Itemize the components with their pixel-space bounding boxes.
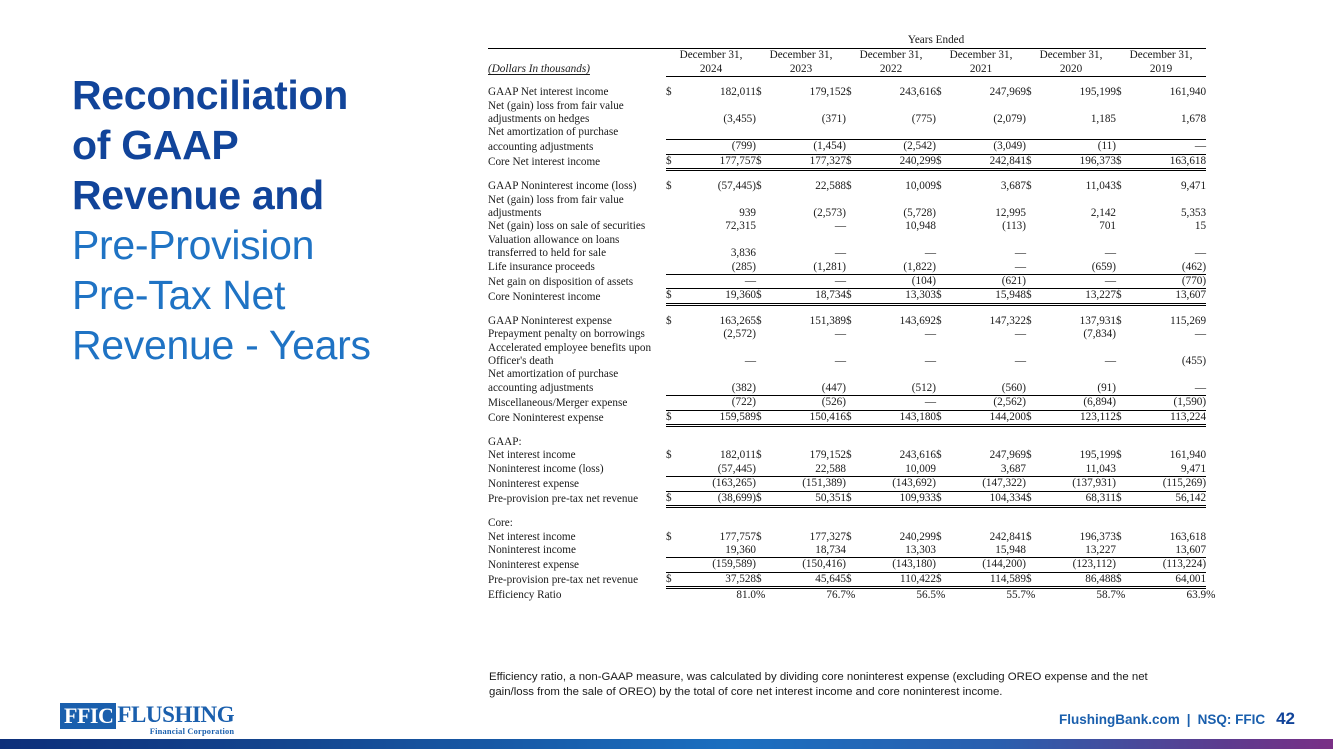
row-currency-symbol: [846, 544, 862, 558]
row-value: 242,841: [952, 531, 1026, 544]
row-value: 161,940: [1132, 449, 1206, 462]
row-value: 56,142: [1132, 491, 1206, 506]
row-value: —: [862, 328, 936, 341]
row-currency-symbol: [936, 544, 952, 558]
table-row: Net interest income$182,011$179,152$243,…: [488, 449, 1206, 462]
row-value: (104): [862, 275, 936, 289]
row-currency-symbol: [936, 463, 952, 477]
row-value: (150,416): [772, 558, 846, 572]
row-currency-symbol: [1116, 140, 1132, 154]
table-row: Net amortization of purchase: [488, 126, 1206, 139]
row-value: 109,933: [862, 491, 936, 506]
row-continuation-pad: [666, 234, 1206, 247]
table-row: Miscellaneous/Merger expense(722)(526)—(…: [488, 396, 1206, 410]
row-currency-symbol: $: [1116, 410, 1132, 425]
row-value: 240,299: [862, 531, 936, 544]
row-currency-symbol: [1116, 558, 1132, 572]
row-value: 163,618: [1132, 531, 1206, 544]
title-line-4: Pre-Provision: [72, 220, 452, 270]
row-value: —: [682, 355, 756, 368]
row-value: 177,757: [682, 154, 756, 169]
row-currency-symbol: $: [936, 86, 952, 99]
row-currency-symbol: [756, 396, 772, 410]
row-currency-symbol: $: [666, 315, 682, 328]
row-value: 144,200: [952, 410, 1026, 425]
column-header-line1: December 31,: [756, 49, 846, 62]
title-line-6: Revenue - Years: [72, 320, 452, 370]
row-currency-symbol: $: [1116, 86, 1132, 99]
row-currency-symbol: $: [1026, 410, 1042, 425]
section-heading-row: Core:: [488, 517, 1206, 530]
row-currency-symbol: $: [936, 449, 952, 462]
row-label: Officer's death: [488, 355, 666, 368]
column-header-line1: December 31,: [936, 49, 1026, 62]
row-value: 64,001: [1132, 572, 1206, 587]
row-value: 86,488: [1042, 572, 1116, 587]
table-row: Noninterest income19,36018,73413,30315,9…: [488, 544, 1206, 558]
row-currency-symbol: [666, 247, 682, 260]
row-value: (3,049): [952, 140, 1026, 154]
row-label: Core Noninterest income: [488, 289, 666, 304]
row-value: 3,836: [682, 247, 756, 260]
row-value: —: [952, 328, 1026, 341]
row-currency-symbol: [846, 355, 862, 368]
row-currency-symbol: [1116, 207, 1132, 220]
row-currency-symbol: [756, 207, 772, 220]
row-value: 18,734: [772, 544, 846, 558]
row-currency-symbol: $: [1116, 572, 1132, 587]
row-currency-symbol: [846, 275, 862, 289]
title-line-1: Reconciliation: [72, 70, 452, 120]
row-value: 196,373: [1042, 154, 1116, 169]
row-value: 2,142: [1042, 207, 1116, 220]
row-value: (799): [682, 140, 756, 154]
table-row: Noninterest expense(163,265)(151,389)(14…: [488, 477, 1206, 491]
row-value: —: [772, 275, 846, 289]
row-currency-symbol: [846, 140, 862, 154]
row-label: Noninterest income (loss): [488, 463, 666, 477]
row-value: 11,043: [1042, 463, 1116, 477]
row-label: Core Net interest income: [488, 154, 666, 169]
row-currency-symbol: [846, 558, 862, 572]
row-value: 11,043: [1042, 180, 1116, 193]
row-value: (3,455): [682, 113, 756, 126]
row-currency-symbol: [756, 220, 772, 233]
row-currency-symbol: $: [756, 86, 772, 99]
row-currency-symbol: $: [756, 491, 772, 506]
row-currency-symbol: [1026, 247, 1042, 260]
row-value: (2,542): [862, 140, 936, 154]
row-currency-symbol: $: [936, 531, 952, 544]
row-value: (447): [772, 382, 846, 396]
row-value: —: [772, 247, 846, 260]
row-value: 163,265: [682, 315, 756, 328]
row-currency-symbol: [666, 140, 682, 154]
row-value: (371): [772, 113, 846, 126]
row-currency-symbol: [1026, 113, 1042, 126]
row-currency-symbol: $: [846, 289, 862, 304]
row-value: 195,199: [1042, 86, 1116, 99]
row-value: 1,678: [1132, 113, 1206, 126]
table-row: Net (gain) loss from fair value: [488, 100, 1206, 113]
row-currency-symbol: [666, 382, 682, 396]
table-row: Core Noninterest expense$159,589$150,416…: [488, 410, 1206, 425]
row-value: —: [952, 355, 1026, 368]
row-label: Pre-provision pre-tax net revenue: [488, 491, 666, 506]
row-percent-symbol: %: [936, 588, 952, 603]
row-value: —: [1132, 328, 1206, 341]
table-row: adjustments on hedges(3,455)(371)(775)(2…: [488, 113, 1206, 126]
row-currency-symbol: [1116, 544, 1132, 558]
row-currency-symbol: [1026, 140, 1042, 154]
table-row: accounting adjustments(382)(447)(512)(56…: [488, 382, 1206, 396]
row-currency-symbol: $: [846, 491, 862, 506]
row-value: (57,445): [682, 463, 756, 477]
row-value: 10,948: [862, 220, 936, 233]
row-value: 195,199: [1042, 449, 1116, 462]
row-value: (57,445): [682, 180, 756, 193]
row-value: 5,353: [1132, 207, 1206, 220]
table-row: Net interest income$177,757$177,327$240,…: [488, 531, 1206, 544]
row-value: —: [1132, 247, 1206, 260]
row-currency-symbol: $: [1026, 572, 1042, 587]
row-currency-symbol: [1116, 477, 1132, 491]
row-currency-symbol: [936, 396, 952, 410]
row-currency-symbol: [1026, 463, 1042, 477]
row-currency-symbol: $: [666, 531, 682, 544]
row-currency-symbol: $: [666, 572, 682, 587]
row-currency-symbol: $: [1116, 531, 1132, 544]
row-label: Noninterest income: [488, 544, 666, 558]
row-value: 151,389: [772, 315, 846, 328]
section-spacer: [488, 507, 1206, 518]
company-logo: FFIC FLUSHING Financial Corporation: [60, 703, 234, 737]
table-row: Core Net interest income$177,757$177,327…: [488, 154, 1206, 169]
row-value: 18,734: [772, 289, 846, 304]
row-value: —: [682, 275, 756, 289]
row-currency-symbol: $: [936, 491, 952, 506]
row-label: Pre-provision pre-tax net revenue: [488, 572, 666, 587]
row-currency-symbol: [1026, 261, 1042, 275]
row-value: —: [862, 355, 936, 368]
row-value: 143,692: [862, 315, 936, 328]
row-value: 13,227: [1042, 289, 1116, 304]
table-row: transferred to held for sale3,836—————: [488, 247, 1206, 260]
row-currency-symbol: $: [756, 572, 772, 587]
row-currency-symbol: [666, 207, 682, 220]
row-label: Efficiency Ratio: [488, 588, 666, 603]
row-currency-symbol: [1026, 220, 1042, 233]
row-value: 143,180: [862, 410, 936, 425]
row-label: Core Noninterest expense: [488, 410, 666, 425]
row-currency-symbol: $: [1026, 449, 1042, 462]
row-currency-symbol: [936, 113, 952, 126]
row-value: 45,645: [772, 572, 846, 587]
row-value: (2,562): [952, 396, 1026, 410]
row-label: Net gain on disposition of assets: [488, 275, 666, 289]
row-value: (151,389): [772, 477, 846, 491]
row-currency-symbol: $: [1116, 180, 1132, 193]
column-header-line1: December 31,: [666, 49, 756, 62]
row-value: 114,589: [952, 572, 1026, 587]
title-line-3: Revenue and: [72, 170, 452, 220]
row-currency-symbol: [756, 463, 772, 477]
row-value: (123,112): [1042, 558, 1116, 572]
row-currency-symbol: [1116, 463, 1132, 477]
row-currency-symbol: [756, 140, 772, 154]
row-value: (163,265): [682, 477, 756, 491]
row-value: (1,822): [862, 261, 936, 275]
row-value: (382): [682, 382, 756, 396]
column-header-2020: December 31,2020: [1026, 49, 1116, 77]
table-body: GAAP Net interest income$182,011$179,152…: [488, 86, 1206, 602]
row-currency-symbol: [936, 140, 952, 154]
row-label: Net amortization of purchase: [488, 126, 666, 139]
table-row: Net (gain) loss on sale of securities72,…: [488, 220, 1206, 233]
row-label: Miscellaneous/Merger expense: [488, 396, 666, 410]
row-value: 113,224: [1132, 410, 1206, 425]
row-value: (621): [952, 275, 1026, 289]
row-currency-symbol: [1116, 113, 1132, 126]
row-label: Valuation allowance on loans: [488, 234, 666, 247]
table-row: Accelerated employee benefits upon: [488, 342, 1206, 355]
row-value: (775): [862, 113, 936, 126]
row-currency-symbol: [756, 275, 772, 289]
title-line-5: Pre-Tax Net: [72, 270, 452, 320]
financial-table: Years Ended (Dollars In thousands)Decemb…: [488, 34, 1206, 603]
table-row: GAAP Noninterest expense$163,265$151,389…: [488, 315, 1206, 328]
row-value: 159,589: [682, 410, 756, 425]
section-spacer: [488, 304, 1206, 315]
row-currency-symbol: [936, 247, 952, 260]
row-label: Net (gain) loss from fair value: [488, 100, 666, 113]
column-header-2023: December 31,2023: [756, 49, 846, 77]
row-value: 243,616: [862, 449, 936, 462]
table-row: Life insurance proceeds(285)(1,281)(1,82…: [488, 261, 1206, 275]
row-value: 19,360: [682, 289, 756, 304]
row-currency-symbol: [666, 588, 682, 603]
row-currency-symbol: [936, 382, 952, 396]
row-value: 240,299: [862, 154, 936, 169]
table-row: accounting adjustments(799)(1,454)(2,542…: [488, 140, 1206, 154]
row-continuation-pad: [666, 126, 1206, 139]
row-value: 13,227: [1042, 544, 1116, 558]
row-value: —: [862, 396, 936, 410]
row-currency-symbol: [846, 220, 862, 233]
row-currency-symbol: $: [1026, 315, 1042, 328]
column-header-line2: 2020: [1026, 63, 1116, 76]
section-heading: Core:: [488, 517, 666, 530]
row-currency-symbol: [936, 220, 952, 233]
row-value: 147,322: [952, 315, 1026, 328]
row-currency-symbol: $: [846, 180, 862, 193]
title-line-2: of GAAP: [72, 120, 452, 170]
row-currency-symbol: [846, 113, 862, 126]
row-value: (1,454): [772, 140, 846, 154]
row-currency-symbol: [936, 558, 952, 572]
row-currency-symbol: $: [1026, 86, 1042, 99]
footer-website[interactable]: FlushingBank.com: [1059, 712, 1180, 727]
row-currency-symbol: $: [1116, 449, 1132, 462]
row-value: (2,573): [772, 207, 846, 220]
row-value: 104,334: [952, 491, 1026, 506]
table-row: Core Noninterest income$19,360$18,734$13…: [488, 289, 1206, 304]
row-currency-symbol: [666, 477, 682, 491]
row-value: 50,351: [772, 491, 846, 506]
row-value: 247,969: [952, 86, 1026, 99]
row-value: 22,588: [772, 180, 846, 193]
row-value: (147,322): [952, 477, 1026, 491]
row-value: —: [952, 247, 1026, 260]
row-label: Prepayment penalty on borrowings: [488, 328, 666, 341]
page-title: Reconciliationof GAAPRevenue andPre-Prov…: [72, 70, 452, 370]
row-value: 123,112: [1042, 410, 1116, 425]
row-currency-symbol: $: [846, 449, 862, 462]
row-value: 161,940: [1132, 86, 1206, 99]
row-currency-symbol: [756, 247, 772, 260]
units-label-cell: (Dollars In thousands): [488, 49, 666, 77]
units-label: (Dollars In thousands): [488, 63, 590, 75]
row-value: 81.0: [682, 588, 756, 603]
row-value: (143,180): [862, 558, 936, 572]
row-value: (512): [862, 382, 936, 396]
row-continuation-pad: [666, 342, 1206, 355]
row-currency-symbol: [1116, 247, 1132, 260]
row-currency-symbol: $: [756, 154, 772, 169]
row-continuation-pad: [666, 100, 1206, 113]
column-header-2024: December 31,2024: [666, 49, 756, 77]
row-currency-symbol: $: [756, 289, 772, 304]
row-currency-symbol: [1026, 328, 1042, 341]
row-currency-symbol: [1026, 275, 1042, 289]
row-continuation-pad: [666, 194, 1206, 207]
row-currency-symbol: $: [846, 86, 862, 99]
row-currency-symbol: [1026, 355, 1042, 368]
table-row: Pre-provision pre-tax net revenue$(38,69…: [488, 491, 1206, 506]
row-currency-symbol: $: [756, 410, 772, 425]
row-value: 10,009: [862, 463, 936, 477]
row-currency-symbol: [1116, 261, 1132, 275]
section-heading-row: GAAP:: [488, 436, 1206, 449]
row-label: adjustments: [488, 207, 666, 220]
row-value: 150,416: [772, 410, 846, 425]
row-value: 701: [1042, 220, 1116, 233]
row-label: accounting adjustments: [488, 382, 666, 396]
row-currency-symbol: [666, 396, 682, 410]
row-currency-symbol: [666, 544, 682, 558]
column-header-2021: December 31,2021: [936, 49, 1026, 77]
row-currency-symbol: [1116, 328, 1132, 341]
row-currency-symbol: $: [1116, 491, 1132, 506]
row-currency-symbol: [666, 463, 682, 477]
table-row: GAAP Noninterest income (loss)$(57,445)$…: [488, 180, 1206, 193]
row-percent-symbol: %: [1116, 588, 1132, 603]
row-value: 55.7: [952, 588, 1026, 603]
row-label: adjustments on hedges: [488, 113, 666, 126]
row-value: 177,327: [772, 154, 846, 169]
row-label: Net amortization of purchase: [488, 368, 666, 381]
column-header-line2: 2022: [846, 63, 936, 76]
row-currency-symbol: [1116, 382, 1132, 396]
row-currency-symbol: [1026, 396, 1042, 410]
row-currency-symbol: [666, 113, 682, 126]
row-value: (144,200): [952, 558, 1026, 572]
row-value: (2,572): [682, 328, 756, 341]
row-value: 196,373: [1042, 531, 1116, 544]
years-ended-row: Years Ended: [488, 34, 1206, 47]
row-currency-symbol: $: [756, 449, 772, 462]
row-value: 179,152: [772, 449, 846, 462]
row-currency-symbol: [756, 558, 772, 572]
row-currency-symbol: [1116, 355, 1132, 368]
row-value: (143,692): [862, 477, 936, 491]
row-currency-symbol: [666, 328, 682, 341]
row-continuation-pad: [666, 368, 1206, 381]
row-currency-symbol: $: [666, 289, 682, 304]
row-value: 247,969: [952, 449, 1026, 462]
row-currency-symbol: [1026, 477, 1042, 491]
row-value: (159,589): [682, 558, 756, 572]
row-currency-symbol: $: [666, 410, 682, 425]
row-currency-symbol: [1026, 558, 1042, 572]
row-currency-symbol: $: [756, 315, 772, 328]
table-header: Years Ended (Dollars In thousands)Decemb…: [488, 34, 1206, 86]
row-label: Net (gain) loss on sale of securities: [488, 220, 666, 233]
column-header-line1: December 31,: [1026, 49, 1116, 62]
table-row: GAAP Net interest income$182,011$179,152…: [488, 86, 1206, 99]
reconciliation-table: Years Ended (Dollars In thousands)Decemb…: [488, 34, 1206, 603]
row-value: 9,471: [1132, 463, 1206, 477]
row-value: 19,360: [682, 544, 756, 558]
row-currency-symbol: $: [666, 449, 682, 462]
row-value: (2,079): [952, 113, 1026, 126]
row-value: 13,607: [1132, 544, 1206, 558]
row-currency-symbol: $: [846, 531, 862, 544]
row-value: 13,303: [862, 544, 936, 558]
row-label: GAAP Net interest income: [488, 86, 666, 99]
row-value: 939: [682, 207, 756, 220]
row-value: 1,185: [1042, 113, 1116, 126]
table-row: Net (gain) loss from fair value: [488, 194, 1206, 207]
row-percent-symbol: %: [756, 588, 772, 603]
row-value: —: [1042, 275, 1116, 289]
row-label: Life insurance proceeds: [488, 261, 666, 275]
years-ended-label: Years Ended: [666, 34, 1206, 47]
row-value: 63.9: [1132, 588, 1206, 603]
table-row: Noninterest expense(159,589)(150,416)(14…: [488, 558, 1206, 572]
row-currency-symbol: [756, 328, 772, 341]
bottom-accent-bar: [0, 739, 1333, 749]
row-value: 37,528: [682, 572, 756, 587]
row-value: (770): [1132, 275, 1206, 289]
row-value: 182,011: [682, 449, 756, 462]
row-currency-symbol: [846, 328, 862, 341]
table-row: Net amortization of purchase: [488, 368, 1206, 381]
row-label: GAAP Noninterest expense: [488, 315, 666, 328]
row-value: 243,616: [862, 86, 936, 99]
row-value: (560): [952, 382, 1026, 396]
row-currency-symbol: $: [1116, 154, 1132, 169]
row-currency-symbol: [936, 328, 952, 341]
footnote: Efficiency ratio, a non-GAAP measure, wa…: [489, 670, 1189, 699]
row-currency-symbol: [666, 275, 682, 289]
row-currency-symbol: [1116, 275, 1132, 289]
row-value: 12,995: [952, 207, 1026, 220]
row-currency-symbol: $: [1026, 491, 1042, 506]
row-currency-symbol: [1116, 220, 1132, 233]
row-value: (11): [1042, 140, 1116, 154]
row-value: 68,311: [1042, 491, 1116, 506]
